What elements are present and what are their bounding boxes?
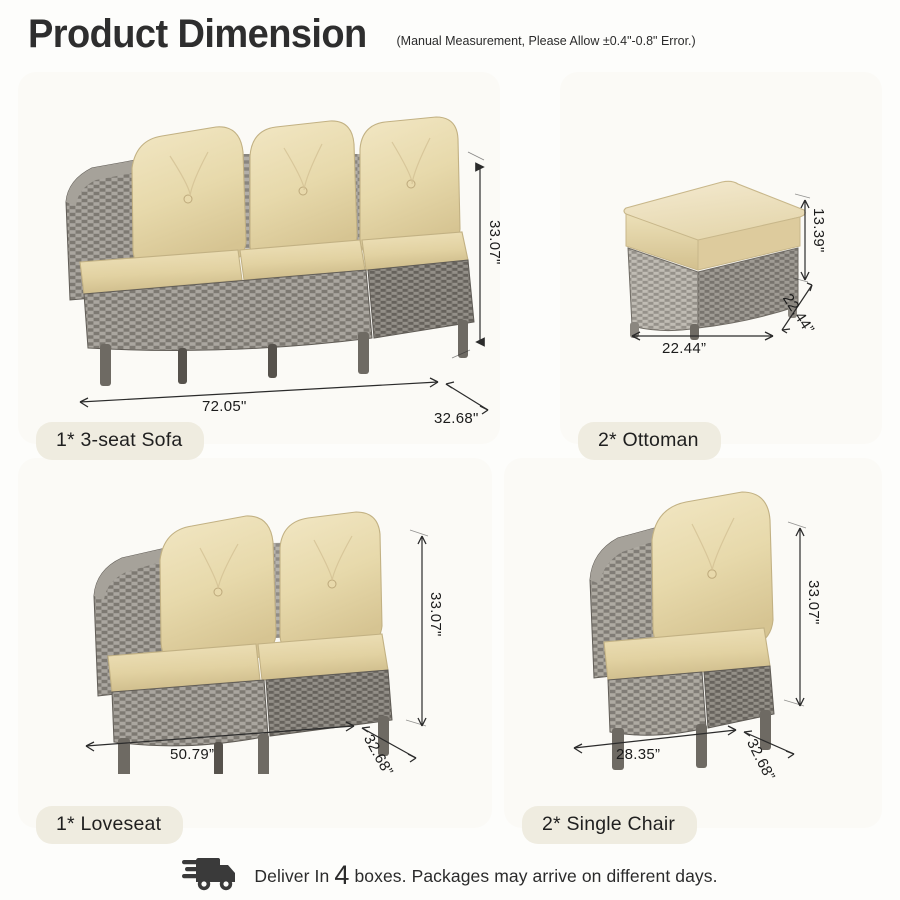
sofa-height-dimension: 33.07" bbox=[486, 220, 503, 265]
delivery-text-before: Deliver In bbox=[254, 866, 329, 887]
delivery-truck-icon bbox=[182, 854, 240, 892]
sofa-dimension-lines bbox=[18, 72, 500, 444]
delivery-footer: Deliver In 4 boxes. Packages may arrive … bbox=[0, 846, 900, 900]
page-title: Product Dimension bbox=[28, 14, 367, 54]
chair-dimension-lines bbox=[504, 458, 882, 828]
delivery-box-count: 4 bbox=[334, 862, 349, 889]
ottoman-label: 2* Ottoman bbox=[578, 422, 721, 460]
loveseat-dimension-lines bbox=[18, 458, 492, 828]
product-panel-chair: 33.07" 28.35” 32.68” 2* Single Chair bbox=[504, 458, 882, 828]
ottoman-dimension-lines bbox=[560, 72, 882, 444]
ottoman-height-dimension: 13.39" bbox=[810, 208, 827, 253]
chair-width-dimension: 28.35” bbox=[616, 746, 660, 763]
product-panel-sofa: 33.07" 72.05" 32.68" 1* 3-seat Sofa bbox=[18, 72, 500, 444]
page-subtitle: (Manual Measurement, Please Allow ±0.4"-… bbox=[397, 34, 696, 48]
product-panel-loveseat: 33.07" 50.79” 32.68” 1* Loveseat bbox=[18, 458, 492, 828]
delivery-text: Deliver In 4 boxes. Packages may arrive … bbox=[254, 860, 717, 887]
loveseat-illustration-stage: 33.07" 50.79” 32.68” 1* Loveseat bbox=[18, 458, 492, 828]
sofa-width-dimension: 72.05" bbox=[202, 398, 247, 415]
page-header: Product Dimension (Manual Measurement, P… bbox=[28, 14, 878, 66]
ottoman-width-dimension: 22.44” bbox=[662, 340, 706, 357]
loveseat-label: 1* Loveseat bbox=[36, 806, 183, 844]
ottoman-illustration-stage: 13.39" 22.44” 22.44” 2* Ottoman bbox=[560, 72, 882, 444]
sofa-label: 1* 3-seat Sofa bbox=[36, 422, 204, 460]
sofa-illustration-stage: 33.07" 72.05" 32.68" 1* 3-seat Sofa bbox=[18, 72, 500, 444]
delivery-text-after: boxes. Packages may arrive on different … bbox=[354, 866, 717, 887]
sofa-depth-dimension: 32.68" bbox=[434, 410, 479, 427]
chair-illustration-stage: 33.07" 28.35” 32.68” 2* Single Chair bbox=[504, 458, 882, 828]
chair-height-dimension: 33.07" bbox=[805, 580, 822, 625]
chair-label: 2* Single Chair bbox=[522, 806, 697, 844]
loveseat-width-dimension: 50.79” bbox=[170, 746, 214, 763]
product-panel-ottoman: 13.39" 22.44” 22.44” 2* Ottoman bbox=[560, 72, 882, 444]
loveseat-height-dimension: 33.07" bbox=[427, 592, 444, 637]
